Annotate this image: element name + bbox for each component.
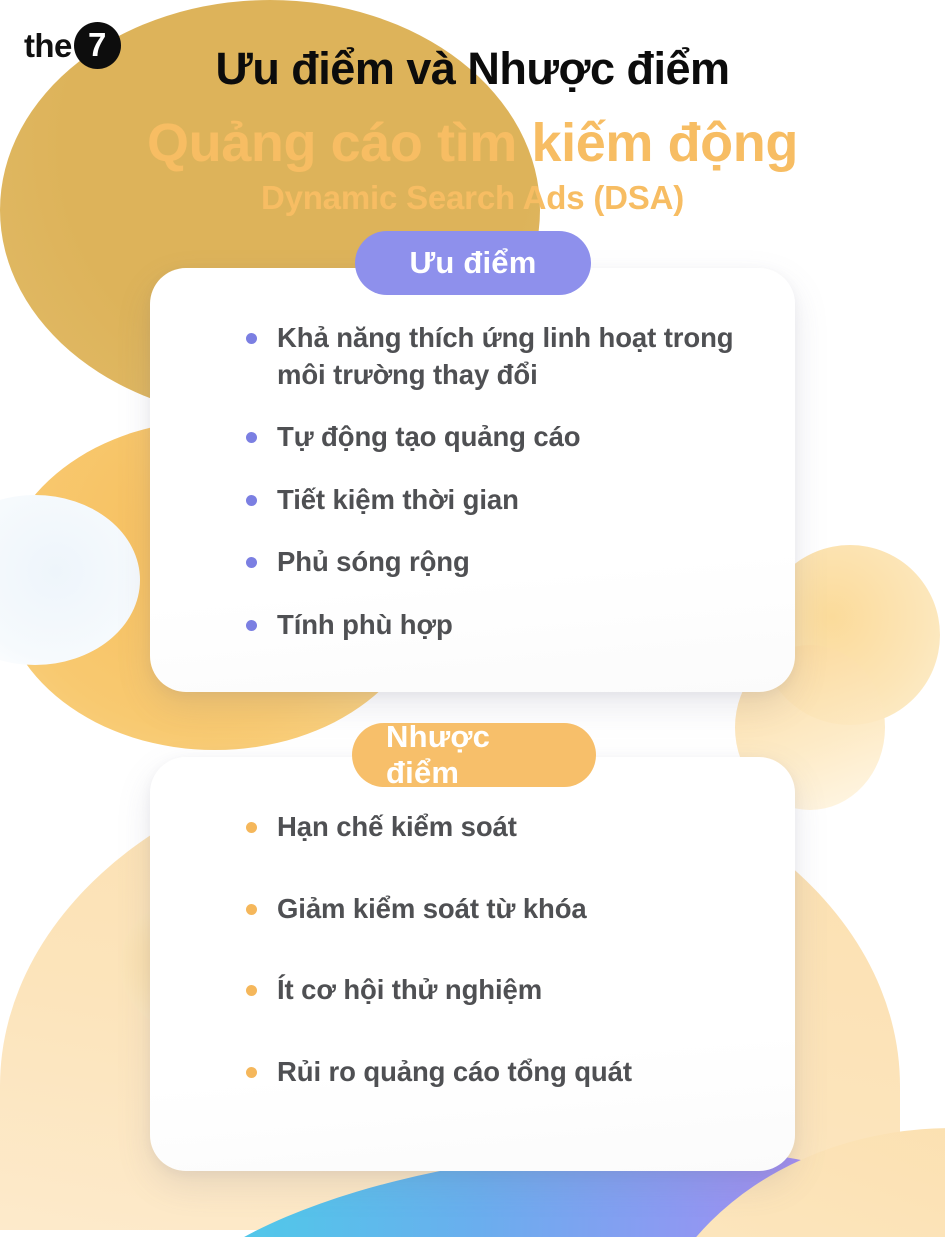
list-item: Khả năng thích ứng linh hoạt trong môi t… [246, 320, 755, 393]
page-subtitle-english: Dynamic Search Ads (DSA) [0, 180, 945, 216]
cons-card: Hạn chế kiểm soát Giảm kiểm soát từ khóa… [150, 757, 795, 1171]
list-item-label: Ít cơ hội thử nghiệm [277, 972, 542, 1009]
pros-header-pill: Ưu điểm [355, 231, 591, 295]
bullet-dot-icon [246, 1067, 257, 1078]
cons-list: Hạn chế kiểm soát Giảm kiểm soát từ khóa… [246, 809, 755, 1135]
bullet-dot-icon [246, 822, 257, 833]
list-item: Phủ sóng rộng [246, 544, 755, 581]
bullet-dot-icon [246, 432, 257, 443]
page-subtitle: Quảng cáo tìm kiếm động [0, 114, 945, 172]
list-item-label: Tiết kiệm thời gian [277, 482, 519, 519]
bullet-dot-icon [246, 557, 257, 568]
bullet-dot-icon [246, 904, 257, 915]
list-item-label: Giảm kiểm soát từ khóa [277, 891, 587, 928]
list-item: Giảm kiểm soát từ khóa [246, 891, 755, 928]
cons-header-pill: Nhược điểm [352, 723, 596, 787]
bullet-dot-icon [246, 985, 257, 996]
list-item-label: Tự động tạo quảng cáo [277, 419, 581, 456]
list-item-label: Hạn chế kiểm soát [277, 809, 517, 846]
bullet-dot-icon [246, 333, 257, 344]
bullet-dot-icon [246, 495, 257, 506]
list-item: Tự động tạo quảng cáo [246, 419, 755, 456]
list-item-label: Tính phù hợp [277, 607, 453, 644]
page-title: Ưu điểm và Nhược điểm [0, 44, 945, 94]
list-item-label: Rủi ro quảng cáo tổng quát [277, 1054, 632, 1091]
infographic-canvas: the 7 Ưu điểm và Nhược điểm Quảng cáo tì… [0, 0, 945, 1237]
list-item-label: Phủ sóng rộng [277, 544, 470, 581]
list-item: Tiết kiệm thời gian [246, 482, 755, 519]
bullet-dot-icon [246, 620, 257, 631]
list-item: Ít cơ hội thử nghiệm [246, 972, 755, 1009]
pros-list: Khả năng thích ứng linh hoạt trong môi t… [246, 320, 755, 669]
list-item-label: Khả năng thích ứng linh hoạt trong môi t… [277, 320, 755, 393]
pros-card: Khả năng thích ứng linh hoạt trong môi t… [150, 268, 795, 692]
list-item: Hạn chế kiểm soát [246, 809, 755, 846]
list-item: Tính phù hợp [246, 607, 755, 644]
list-item: Rủi ro quảng cáo tổng quát [246, 1054, 755, 1091]
